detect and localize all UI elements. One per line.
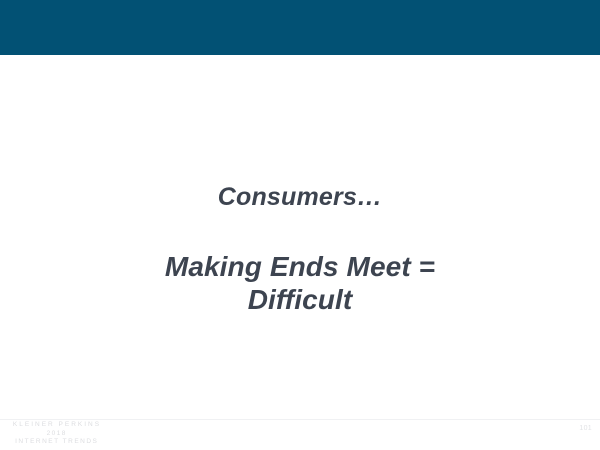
presentation-slide: Consumers… Making Ends Meet = Difficult …	[0, 0, 600, 450]
slide-title-secondary-line-2: Difficult	[0, 283, 600, 316]
slide-title-primary: Consumers…	[0, 183, 600, 212]
logo-line-company: KLEINER PERKINS	[4, 421, 108, 430]
slide-footer: KLEINER PERKINS 2018 INTERNET TRENDS 101	[0, 420, 600, 450]
logo-line-report: INTERNET TRENDS	[4, 438, 108, 447]
slide-title-secondary: Making Ends Meet = Difficult	[0, 250, 600, 316]
logo-line-year: 2018	[4, 430, 108, 439]
page-number: 101	[579, 425, 592, 432]
slide-header-band	[0, 0, 600, 55]
slide-content-area: Consumers… Making Ends Meet = Difficult	[0, 55, 600, 419]
slide-title-secondary-line-1: Making Ends Meet =	[0, 250, 600, 283]
kleiner-perkins-logo: KLEINER PERKINS 2018 INTERNET TRENDS	[4, 421, 108, 447]
